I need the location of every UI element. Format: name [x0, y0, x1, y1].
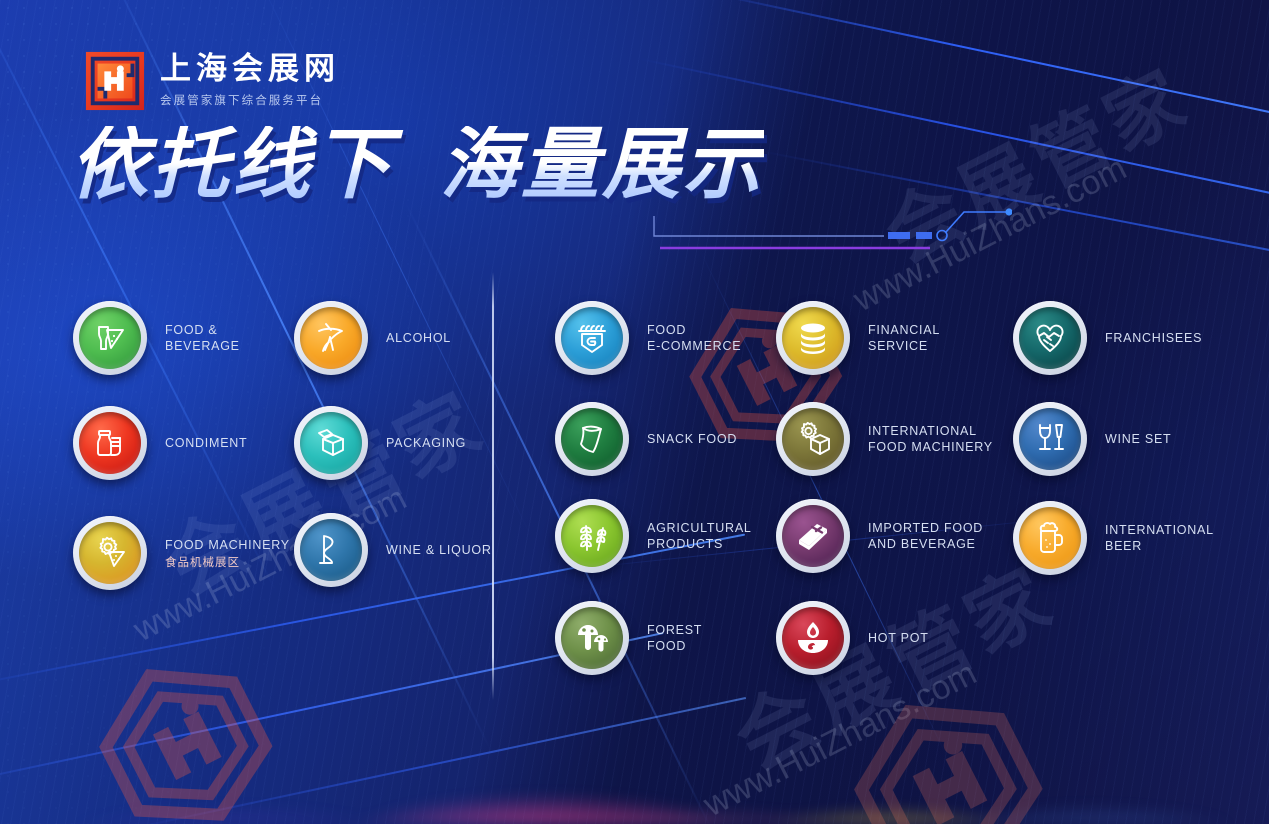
food-machinery-icon	[90, 533, 130, 573]
category-label: AGRICULTURAL PRODUCTS	[647, 520, 752, 552]
label-line-2: E-COMMERCE	[647, 339, 741, 353]
brand-logo[interactable]: 上海会展网 会展管家旗下综合服务平台	[84, 48, 340, 114]
disc	[79, 307, 141, 369]
label-line-1: ALCOHOL	[386, 331, 451, 345]
mushroom-icon	[572, 618, 612, 658]
poster-canvas: 会展管家 www.HuiZhans.com 会展管家 www.HuiZhans.…	[0, 0, 1269, 824]
international-machinery-icon	[793, 419, 833, 459]
disc	[782, 505, 844, 567]
category-item-snack-food[interactable]: SNACK FOOD	[555, 402, 737, 476]
badge	[555, 402, 629, 476]
category-item-food-machinery[interactable]: FOOD MACHINERY 食品机械展区	[73, 516, 290, 590]
label-line-1: WINE & LIQUOR	[386, 543, 492, 557]
badge	[555, 499, 629, 573]
label-line-1: SNACK FOOD	[647, 432, 737, 446]
disc	[300, 412, 362, 474]
category-label: FOOD MACHINERY 食品机械展区	[165, 537, 290, 570]
section-divider	[492, 272, 494, 700]
label-line-1: FOREST	[647, 623, 702, 637]
disc	[79, 412, 141, 474]
brand-name: 上海会展网	[160, 54, 340, 85]
label-line-1: HOT POT	[868, 631, 929, 645]
category-label: CONDIMENT	[165, 435, 247, 451]
badge	[73, 406, 147, 480]
disc	[782, 408, 844, 470]
disc	[561, 607, 623, 669]
badge	[555, 301, 629, 375]
category-item-packaging[interactable]: PACKAGING	[294, 406, 466, 480]
label-line-1: FINANCIAL	[868, 323, 940, 337]
category-label: SNACK FOOD	[647, 431, 737, 447]
category-item-forest-food[interactable]: FOREST FOOD	[555, 601, 702, 675]
packaging-box-icon	[311, 423, 351, 463]
category-label: ALCOHOL	[386, 330, 451, 346]
food-ecommerce-icon	[572, 318, 612, 358]
label-line-1: FOOD &	[165, 323, 217, 337]
category-item-wine-liquor[interactable]: WINE & LIQUOR	[294, 513, 492, 587]
imported-package-icon	[793, 516, 833, 556]
wheat-icon	[572, 516, 612, 556]
beer-mug-icon	[1030, 518, 1070, 558]
badge	[73, 301, 147, 375]
disc	[1019, 408, 1081, 470]
shanghai-expo-logo-icon	[84, 48, 146, 114]
label-line-cn: 食品机械展区	[165, 555, 290, 570]
badge	[1013, 501, 1087, 575]
label-line-1: FRANCHISEES	[1105, 331, 1202, 345]
food-beverage-icon	[90, 318, 130, 358]
label-line-1: INTERNATIONAL	[868, 424, 977, 438]
category-label: HOT POT	[868, 630, 929, 646]
category-label: INTERNATIONAL BEER	[1105, 522, 1214, 554]
disc	[1019, 507, 1081, 569]
disc	[1019, 307, 1081, 369]
disc	[561, 307, 623, 369]
category-item-international-food-machinery[interactable]: INTERNATIONAL FOOD MACHINERY	[776, 402, 993, 476]
label-line-1: AGRICULTURAL	[647, 521, 752, 535]
wine-glass-icon	[311, 530, 351, 570]
disc	[561, 408, 623, 470]
badge	[1013, 402, 1087, 476]
category-item-condiment[interactable]: CONDIMENT	[73, 406, 247, 480]
handshake-heart-icon	[1030, 318, 1070, 358]
category-label: WINE SET	[1105, 431, 1171, 447]
category-item-financial-service[interactable]: FINANCIAL SERVICE	[776, 301, 940, 375]
category-label: FOOD & BEVERAGE	[165, 322, 240, 354]
label-line-2: SERVICE	[868, 339, 928, 353]
label-line-2: FOOD	[647, 639, 686, 653]
label-line-2: FOOD MACHINERY	[868, 440, 993, 454]
label-line-1: FOOD	[647, 323, 686, 337]
category-item-franchisees[interactable]: FRANCHISEES	[1013, 301, 1202, 375]
category-item-alcohol[interactable]: ALCOHOL	[294, 301, 451, 375]
category-item-hot-pot[interactable]: HOT POT	[776, 601, 929, 675]
badge	[294, 406, 368, 480]
badge	[776, 601, 850, 675]
label-line-1: INTERNATIONAL	[1105, 523, 1214, 537]
coin-stack-icon	[793, 318, 833, 358]
badge	[776, 301, 850, 375]
category-label: FOREST FOOD	[647, 622, 702, 654]
category-item-agricultural-products[interactable]: AGRICULTURAL PRODUCTS	[555, 499, 752, 573]
category-item-food-ecommerce[interactable]: FOOD E-COMMERCE	[555, 301, 741, 375]
category-label: WINE & LIQUOR	[386, 542, 492, 558]
badge	[294, 301, 368, 375]
disc	[300, 307, 362, 369]
badge	[294, 513, 368, 587]
category-item-wine-set[interactable]: WINE SET	[1013, 402, 1171, 476]
decorative-connector-graphic	[652, 196, 1012, 252]
category-label: FOOD E-COMMERCE	[647, 322, 741, 354]
disc	[79, 522, 141, 584]
label-line-1: FOOD MACHINERY	[165, 538, 290, 552]
disc	[561, 505, 623, 567]
badge	[555, 601, 629, 675]
brand-tagline: 会展管家旗下综合服务平台	[160, 92, 340, 108]
category-item-international-beer[interactable]: INTERNATIONAL BEER	[1013, 501, 1214, 575]
badge	[1013, 301, 1087, 375]
snack-bag-icon	[572, 419, 612, 459]
disc	[300, 519, 362, 581]
label-line-2: BEVERAGE	[165, 339, 240, 353]
disc	[782, 607, 844, 669]
category-item-imported-food-beverage[interactable]: IMPORTED FOOD AND BEVERAGE	[776, 499, 983, 573]
category-label: FRANCHISEES	[1105, 330, 1202, 346]
alcohol-pourer-icon	[311, 318, 351, 358]
label-line-1: WINE SET	[1105, 432, 1171, 446]
label-line-1: IMPORTED FOOD	[868, 521, 983, 535]
page-title: 依托线下海量展示	[70, 126, 764, 204]
category-label: IMPORTED FOOD AND BEVERAGE	[868, 520, 983, 552]
condiment-bottle-icon	[90, 423, 130, 463]
headline-part1: 依托线下	[70, 120, 394, 210]
label-line-2: PRODUCTS	[647, 537, 723, 551]
badge	[776, 499, 850, 573]
badge	[776, 402, 850, 476]
label-line-2: AND BEVERAGE	[868, 537, 976, 551]
label-line-1: PACKAGING	[386, 436, 466, 450]
badge	[73, 516, 147, 590]
category-label: INTERNATIONAL FOOD MACHINERY	[868, 423, 993, 455]
label-line-1: CONDIMENT	[165, 436, 247, 450]
disc	[782, 307, 844, 369]
hot-pot-icon	[793, 618, 833, 658]
category-label: FINANCIAL SERVICE	[868, 322, 940, 354]
category-item-food-beverage[interactable]: FOOD & BEVERAGE	[73, 301, 240, 375]
category-label: PACKAGING	[386, 435, 466, 451]
label-line-2: BEER	[1105, 539, 1142, 553]
wine-set-icon	[1030, 419, 1070, 459]
